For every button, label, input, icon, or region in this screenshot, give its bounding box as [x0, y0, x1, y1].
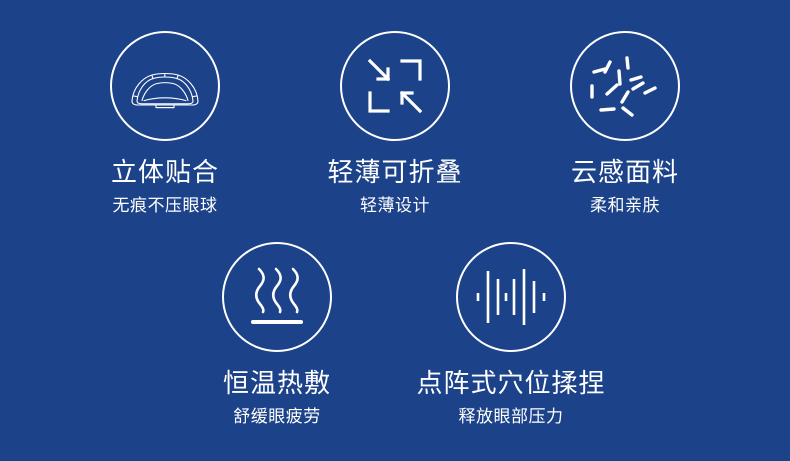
feature-subtitle: 轻薄设计 — [285, 196, 505, 216]
feature-subtitle: 释放眼部压力 — [401, 407, 621, 427]
icon-circle-2 — [340, 31, 450, 141]
feature-title: 点阵式穴位揉捏 — [401, 368, 621, 398]
icon-circle-5 — [456, 242, 566, 352]
feature-subtitle: 舒缓眼疲劳 — [167, 407, 387, 427]
icon-circle-3 — [570, 31, 680, 141]
feature-banner: 立体贴合 无痕不压眼球 轻薄可折叠 轻薄设计 — [0, 0, 790, 461]
feature-card-2: 轻薄可折叠 轻薄设计 — [285, 31, 505, 216]
icon-circle-1 — [110, 31, 220, 141]
feature-card-1: 立体贴合 无痕不压眼球 — [55, 31, 275, 216]
feature-subtitle: 柔和亲肤 — [515, 196, 735, 216]
feature-title: 云感面料 — [515, 157, 735, 187]
feature-card-4: 恒温热敷 舒缓眼疲劳 — [167, 242, 387, 427]
feature-card-5: 点阵式穴位揉捏 释放眼部压力 — [401, 242, 621, 427]
feature-title: 恒温热敷 — [167, 368, 387, 398]
feature-card-3: 云感面料 柔和亲肤 — [515, 31, 735, 216]
feature-title: 立体贴合 — [55, 157, 275, 187]
feature-title: 轻薄可折叠 — [285, 157, 505, 187]
icon-circle-4 — [222, 242, 332, 352]
feature-subtitle: 无痕不压眼球 — [55, 196, 275, 216]
